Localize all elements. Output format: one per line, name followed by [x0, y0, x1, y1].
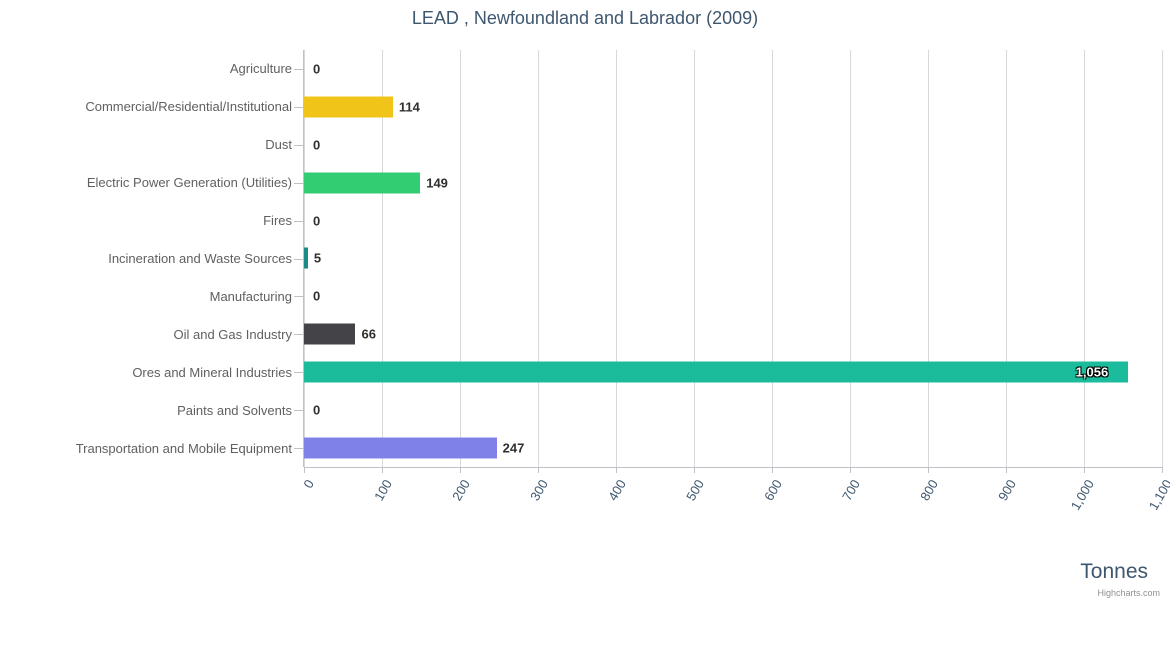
x-axis-tick-mark — [304, 467, 305, 473]
x-axis-tick-mark — [538, 467, 539, 473]
bar-row: 0 — [304, 50, 1162, 88]
category-label: Manufacturing — [210, 289, 292, 304]
category-label: Paints and Solvents — [177, 403, 292, 418]
x-axis-tick-mark — [1084, 467, 1085, 473]
category-label: Agriculture — [230, 61, 292, 76]
gridline — [1162, 50, 1163, 467]
y-axis-tick-mark — [294, 372, 303, 373]
y-axis-tick-mark — [294, 69, 303, 70]
y-axis-tick-mark — [294, 448, 303, 449]
highcharts-credits: Highcharts.com — [1097, 588, 1160, 598]
x-axis-tick-mark — [694, 467, 695, 473]
category-label-row: Commercial/Residential/Institutional — [0, 88, 292, 126]
y-axis-tick-mark — [294, 410, 303, 411]
x-axis-tick-mark — [382, 467, 383, 473]
x-axis-tick-mark — [616, 467, 617, 473]
category-label-row: Dust — [0, 126, 292, 164]
bar-data-label: 149 — [426, 175, 448, 190]
category-label-row: Paints and Solvents — [0, 391, 292, 429]
category-label: Commercial/Residential/Institutional — [85, 99, 292, 114]
y-axis-tick-mark — [294, 183, 303, 184]
bar-data-label: 0 — [313, 137, 320, 152]
category-label-row: Transportation and Mobile Equipment — [0, 429, 292, 467]
bar-row: 0 — [304, 277, 1162, 315]
bar-row: 247 — [304, 429, 1162, 467]
bar-row: 1,056 — [304, 353, 1162, 391]
bar-data-label: 247 — [503, 441, 525, 456]
category-label-row: Oil and Gas Industry — [0, 315, 292, 353]
y-axis-tick-mark — [294, 145, 303, 146]
chart-title: LEAD , Newfoundland and Labrador (2009) — [0, 8, 1170, 29]
category-label-row: Manufacturing — [0, 277, 292, 315]
x-axis-tick-mark — [772, 467, 773, 473]
x-axis-tick-mark — [928, 467, 929, 473]
x-axis-line — [304, 467, 1162, 468]
category-label-row: Ores and Mineral Industries — [0, 353, 292, 391]
x-axis-tick-mark — [850, 467, 851, 473]
category-label-row: Agriculture — [0, 50, 292, 88]
category-label: Ores and Mineral Industries — [132, 365, 292, 380]
bar-data-label: 114 — [399, 99, 420, 114]
bar-row: 114 — [304, 88, 1162, 126]
bar-data-label: 0 — [313, 289, 320, 304]
y-axis-tick-mark — [294, 296, 303, 297]
y-axis-tick-mark — [294, 259, 303, 260]
y-axis-tick-mark — [294, 107, 303, 108]
x-axis-tick-mark — [1162, 467, 1163, 473]
bar-row: 0 — [304, 126, 1162, 164]
x-axis-tick-mark — [460, 467, 461, 473]
category-label: Fires — [263, 213, 292, 228]
y-axis-category-labels: AgricultureCommercial/Residential/Instit… — [0, 50, 292, 467]
bar-data-label: 66 — [361, 327, 375, 342]
bar[interactable] — [304, 362, 1128, 383]
category-label: Transportation and Mobile Equipment — [76, 441, 292, 456]
bar[interactable] — [304, 438, 497, 459]
category-label: Incineration and Waste Sources — [108, 251, 292, 266]
bar[interactable] — [304, 172, 420, 193]
bar-row: 5 — [304, 240, 1162, 278]
bar-row: 149 — [304, 164, 1162, 202]
category-label-row: Incineration and Waste Sources — [0, 240, 292, 278]
bar-data-label: 0 — [313, 403, 320, 418]
bar[interactable] — [304, 324, 355, 345]
bar[interactable] — [304, 96, 393, 117]
bar[interactable] — [304, 248, 308, 269]
x-axis-title: Tonnes — [1080, 560, 1148, 584]
category-label-row: Electric Power Generation (Utilities) — [0, 164, 292, 202]
bar-data-label: 0 — [313, 61, 320, 76]
bar-data-label: 0 — [313, 213, 320, 228]
bar-row: 66 — [304, 315, 1162, 353]
highcharts-container: LEAD , Newfoundland and Labrador (2009) … — [0, 0, 1170, 600]
bar-data-label: 1,056 — [1076, 365, 1109, 380]
y-axis-tick-mark — [294, 334, 303, 335]
category-label-row: Fires — [0, 202, 292, 240]
y-axis-tick-mark — [294, 221, 303, 222]
category-label: Oil and Gas Industry — [174, 327, 293, 342]
x-axis-tick-mark — [1006, 467, 1007, 473]
category-label: Dust — [265, 137, 292, 152]
bar-data-label: 5 — [314, 251, 321, 266]
plot-area: 01140149050661,0560247 — [304, 50, 1162, 467]
bar-row: 0 — [304, 202, 1162, 240]
bar-row: 0 — [304, 391, 1162, 429]
category-label: Electric Power Generation (Utilities) — [87, 175, 292, 190]
